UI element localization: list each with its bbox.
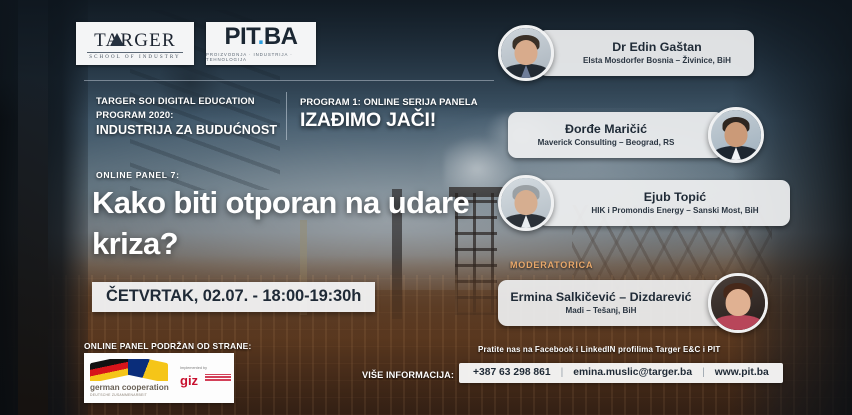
program-block-left: TARGER SOI DIGITAL EDUCATION PROGRAM 202…: [96, 94, 291, 137]
pit-logo-text-ba: BA: [264, 23, 298, 50]
targer-logo: TARGER SCHOOL OF INDUSTRY: [76, 22, 194, 65]
moderator-info-pill: Ermina Salkičević – Dizdarević Madi – Te…: [498, 280, 726, 326]
speaker-card: Ejub Topić HIK i Promondis Energy – Sans…: [498, 178, 790, 228]
moderator-avatar: [708, 273, 768, 333]
speaker-info-pill: Dr Edin Gaštan Elsta Mosdorfer Bosnia – …: [538, 30, 754, 76]
moderator-org: Madi – Tešanj, BiH: [566, 305, 637, 316]
german-cooperation-logo: german cooperation DEUTSCHE ZUSAMMENARBE…: [84, 359, 176, 397]
speaker-card: Đorđe Maričić Maverick Consulting – Beog…: [508, 110, 764, 160]
program-block-right: PROGRAM 1: ONLINE SERIJA PANELA IZAĐIMO …: [300, 96, 478, 132]
german-cooperation-subtitle: DEUTSCHE ZUSAMMENARBEIT: [90, 393, 176, 397]
event-date-bar: ČETVRTAK, 02.07. - 18:00-19:30h: [92, 282, 375, 312]
speaker-name: Ejub Topić: [644, 190, 706, 205]
speaker-name: Dr Edin Gaštan: [612, 40, 702, 55]
german-bosnian-flag-icon: [90, 359, 170, 381]
more-info-label: VIŠE INFORMACIJA:: [362, 370, 454, 380]
german-cooperation-name: german cooperation: [90, 383, 176, 392]
speaker-avatar: [498, 25, 554, 81]
contact-email[interactable]: emina.muslic@targer.ba: [573, 367, 692, 378]
contact-separator-2: |: [702, 367, 705, 378]
speaker-avatar: [498, 175, 554, 231]
speaker-info-pill: Ejub Topić HIK i Promondis Energy – Sans…: [538, 180, 790, 226]
german-flag-icon: [90, 359, 130, 381]
panel-number-label: ONLINE PANEL 7:: [96, 170, 180, 180]
bosnia-flag-icon: [128, 359, 168, 381]
targer-triangle-icon: [110, 33, 124, 46]
giz-tagline-lines-icon: [205, 374, 231, 382]
speaker-info-pill: Đorđe Maričić Maverick Consulting – Beog…: [508, 112, 724, 158]
supporter-logos: german cooperation DEUTSCHE ZUSAMMENARBE…: [84, 353, 234, 403]
speaker-avatar: [708, 107, 764, 163]
avatar-shoulders: [712, 315, 764, 333]
program-divider: [286, 92, 287, 140]
program-left-line1: TARGER SOI DIGITAL EDUCATION: [96, 94, 291, 108]
event-date-text: ČETVRTAK, 02.07. - 18:00-19:30h: [106, 287, 361, 305]
giz-logo: Implemented by giz: [176, 366, 231, 390]
contact-bar: +387 63 298 861 | emina.muslic@targer.ba…: [459, 363, 783, 383]
pit-logo-subtitle: PROIZVODNJA · INDUSTRIJA · TEHNOLOGIJA: [206, 52, 316, 62]
pit-ba-logo: PIT.BA PROIZVODNJA · INDUSTRIJA · TEHNOL…: [206, 22, 316, 65]
pit-ba-wordmark: PIT.BA: [224, 25, 297, 49]
avatar-face: [725, 122, 748, 147]
poster-content: TARGER SCHOOL OF INDUSTRY PIT.BA PROIZVO…: [0, 0, 852, 415]
supported-by-label: ONLINE PANEL PODRŽAN OD STRANE:: [84, 341, 252, 351]
speaker-org: Elsta Mosdorfer Bosnia – Živinice, BiH: [583, 55, 731, 66]
pit-logo-text-pit: PIT: [224, 23, 257, 50]
contact-website[interactable]: www.pit.ba: [715, 367, 769, 378]
targer-logo-subtitle: SCHOOL OF INDUSTRY: [89, 55, 181, 60]
follow-us-text: Pratite nas na Facebook i LinkedIN profi…: [478, 345, 720, 354]
event-poster: TARGER SCHOOL OF INDUSTRY PIT.BA PROIZVO…: [0, 0, 852, 415]
contact-separator-1: |: [561, 367, 564, 378]
avatar-face: [515, 190, 538, 215]
avatar-face: [515, 40, 538, 65]
giz-wordmark: giz: [180, 374, 198, 387]
speaker-card: Dr Edin Gaštan Elsta Mosdorfer Bosnia – …: [498, 28, 754, 78]
contact-phone[interactable]: +387 63 298 861: [473, 367, 551, 378]
program-left-line2: PROGRAM 2020:: [96, 108, 291, 122]
targer-logo-rule: [87, 52, 183, 53]
moderator-card: Ermina Salkičević – Dizdarević Madi – Te…: [498, 278, 768, 328]
logo-row: TARGER SCHOOL OF INDUSTRY PIT.BA PROIZVO…: [76, 22, 316, 65]
program-right-headline: IZAĐIMO JAČI!: [300, 109, 478, 132]
speaker-org: Maverick Consulting – Beograd, RS: [538, 137, 675, 148]
header-divider: [84, 80, 494, 81]
implemented-by-label: Implemented by: [180, 366, 231, 370]
moderator-name: Ermina Salkičević – Dizdarević: [510, 290, 691, 305]
targer-logo-wordmark: TARGER: [94, 31, 176, 50]
program-left-line3: INDUSTRIJA ZA BUDUĆNOST: [96, 123, 291, 137]
targer-logo-text: TARGER: [94, 30, 176, 51]
speaker-org: HIK i Promondis Energy – Sanski Most, Bi…: [591, 205, 758, 216]
moderator-label: MODERATORICA: [510, 260, 593, 270]
speaker-name: Đorđe Maričić: [565, 122, 647, 137]
avatar-face: [726, 289, 751, 316]
program-right-line1: PROGRAM 1: ONLINE SERIJA PANELA: [300, 96, 478, 107]
panel-title: Kako biti otporan na udare kriza?: [92, 182, 492, 264]
